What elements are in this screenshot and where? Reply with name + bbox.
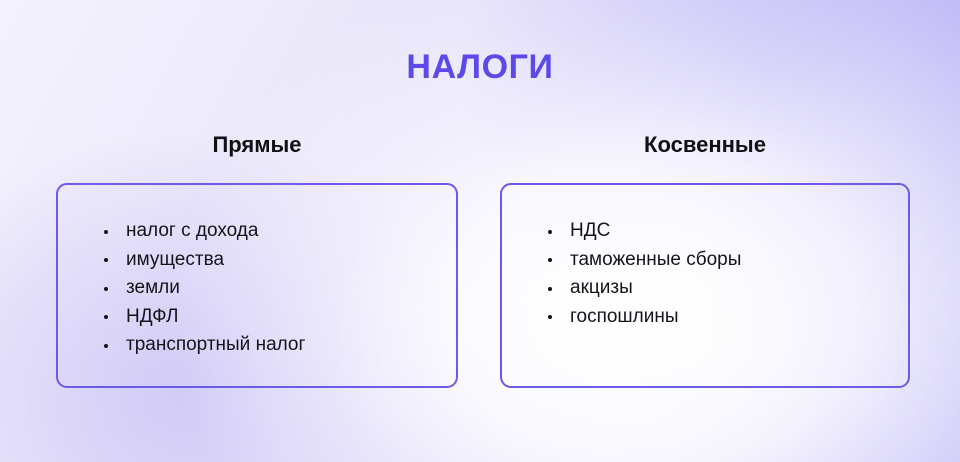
list-item-label: налог с дохода — [126, 220, 258, 241]
slide-content: НАЛОГИ Прямые Косвенные налог с дохода и… — [0, 0, 960, 462]
list-item-label: транспортный налог — [126, 334, 305, 355]
list-item-label: акцизы — [570, 277, 633, 298]
list-item: таможенные сборы — [546, 246, 892, 275]
list-item-label: земли — [126, 277, 180, 298]
list-item-label: госпошлины — [570, 306, 679, 327]
list-item: налог с дохода — [102, 217, 440, 246]
bullet-icon — [104, 344, 108, 348]
list-item-label: имущества — [126, 249, 224, 270]
bullet-icon — [548, 230, 552, 234]
column-header-indirect: Косвенные — [500, 130, 910, 160]
bullet-icon — [548, 315, 552, 319]
list-item: имущества — [102, 246, 440, 275]
list-item: акцизы — [546, 274, 892, 303]
bullet-icon — [104, 315, 108, 319]
bullet-icon — [104, 230, 108, 234]
list-item: госпошлины — [546, 303, 892, 332]
list-item: НДФЛ — [102, 303, 440, 332]
column-header-direct: Прямые — [56, 130, 458, 160]
list-item: земли — [102, 274, 440, 303]
direct-taxes-list: налог с дохода имущества земли НДФЛ тран… — [102, 217, 440, 360]
bullet-icon — [104, 258, 108, 262]
bullet-icon — [548, 287, 552, 291]
list-item: транспортный налог — [102, 331, 440, 360]
page-title: НАЛОГИ — [0, 47, 960, 87]
bullet-icon — [104, 287, 108, 291]
direct-taxes-box: налог с дохода имущества земли НДФЛ тран… — [56, 183, 458, 388]
indirect-taxes-box: НДС таможенные сборы акцизы госпошлины — [500, 183, 910, 388]
list-item-label: НДФЛ — [126, 306, 178, 327]
bullet-icon — [548, 258, 552, 262]
list-item: НДС — [546, 217, 892, 246]
list-item-label: НДС — [570, 220, 610, 241]
tax-classification-slide: НАЛОГИ Прямые Косвенные налог с дохода и… — [0, 0, 960, 462]
indirect-taxes-list: НДС таможенные сборы акцизы госпошлины — [546, 217, 892, 331]
list-item-label: таможенные сборы — [570, 249, 741, 270]
